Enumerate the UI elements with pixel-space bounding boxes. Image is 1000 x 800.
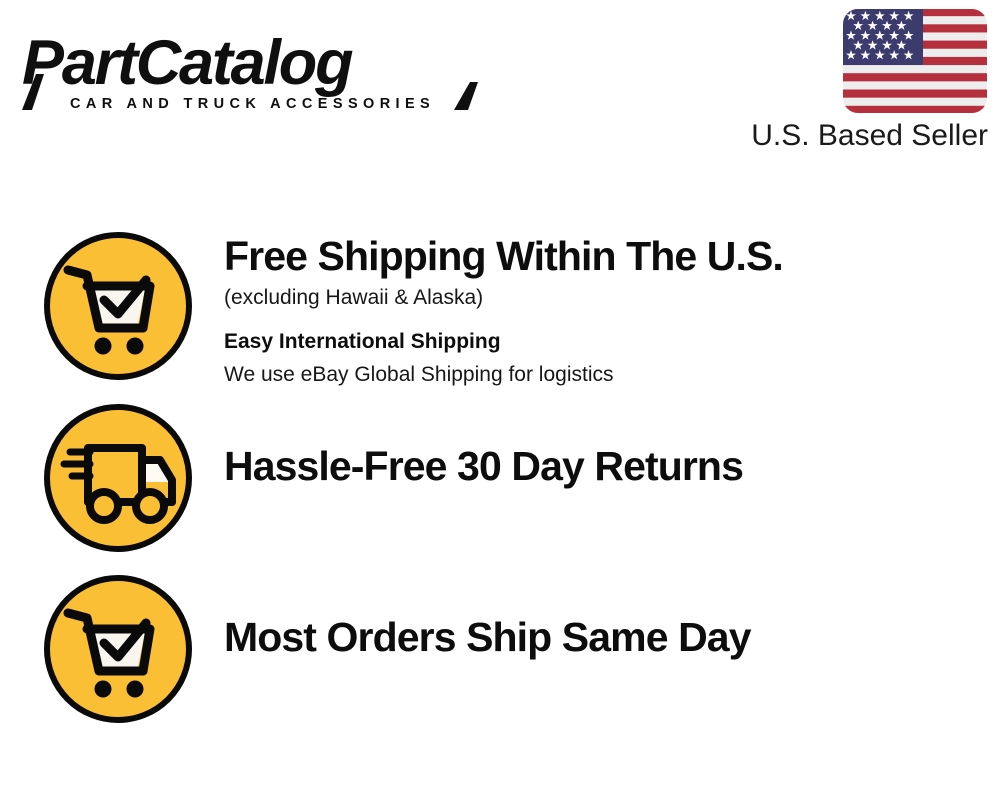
- feature-title: Hassle-Free 30 Day Returns: [224, 446, 1000, 488]
- delivery-truck-icon: [42, 402, 194, 554]
- brand-wordmark-text: PartCatalog: [22, 28, 353, 98]
- feature-title: Most Orders Ship Same Day: [224, 617, 1000, 659]
- banner-header: PartCatalog CAR AND TRUCK ACCESSORIES: [0, 0, 1000, 170]
- feature-secondary-subtitle: We use eBay Global Shipping for logistic…: [224, 361, 1000, 389]
- feature-row: Hassle-Free 30 Day Returns: [0, 402, 1000, 554]
- promo-banner: PartCatalog CAR AND TRUCK ACCESSORIES: [0, 0, 1000, 800]
- brand-tagline-text: CAR AND TRUCK ACCESSORIES: [70, 96, 435, 112]
- feature-title: Free Shipping Within The U.S.: [224, 236, 1000, 278]
- us-based-seller-label: U.S. Based Seller: [726, 120, 988, 152]
- feature-text-block: Free Shipping Within The U.S. (excluding…: [194, 230, 1000, 390]
- feature-row: Free Shipping Within The U.S. (excluding…: [0, 230, 1000, 390]
- us-based-seller-badge: U.S. Based Seller: [726, 8, 988, 152]
- feature-text-block: Hassle-Free 30 Day Returns: [194, 402, 1000, 488]
- feature-subtitle: (excluding Hawaii & Alaska): [224, 284, 1000, 312]
- shopping-cart-check-icon: [42, 573, 194, 725]
- feature-row: Most Orders Ship Same Day: [0, 573, 1000, 725]
- feature-text-block: Most Orders Ship Same Day: [194, 573, 1000, 659]
- logo-right-slash: [454, 82, 478, 110]
- partcatalog-logo: PartCatalog CAR AND TRUCK ACCESSORIES: [22, 22, 492, 114]
- us-flag-icon: [842, 8, 988, 114]
- shopping-cart-check-icon: [42, 230, 194, 382]
- feature-secondary-title: Easy International Shipping: [224, 328, 1000, 355]
